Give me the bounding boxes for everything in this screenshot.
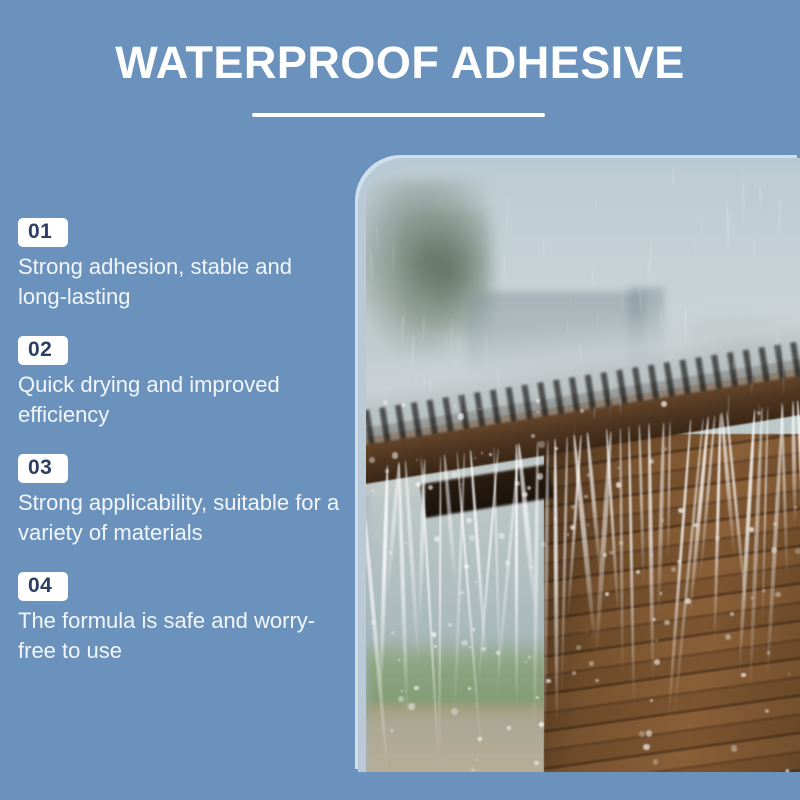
water-droplet — [595, 679, 598, 682]
feature-description: The formula is safe and worry-free to us… — [18, 606, 343, 666]
title-block: WATERPROOF ADHESIVE — [0, 36, 800, 90]
water-droplet — [534, 761, 538, 765]
feature-list: 01 Strong adhesion, stable and long-last… — [18, 218, 348, 690]
water-droplet — [784, 771, 790, 772]
water-droplet — [651, 554, 653, 556]
water-droplet — [646, 730, 652, 736]
water-droplet — [546, 679, 550, 683]
water-droplet — [525, 661, 527, 663]
water-droplet — [471, 768, 475, 772]
water-droplet — [795, 548, 800, 554]
feature-number-badge: 04 — [18, 572, 68, 601]
water-droplet — [498, 533, 504, 539]
water-droplet — [555, 447, 558, 450]
list-item: 03 Strong applicability, suitable for a … — [18, 454, 348, 548]
water-droplet — [537, 411, 539, 413]
water-droplet — [434, 536, 440, 542]
water-droplet — [572, 671, 576, 675]
water-droplet — [369, 457, 375, 463]
water-droplet — [731, 745, 737, 751]
water-droplet — [434, 645, 437, 648]
water-droplet — [655, 639, 658, 642]
water-droplet — [389, 551, 392, 554]
water-droplet — [531, 434, 535, 438]
feature-description: Quick drying and improved efficiency — [18, 370, 343, 430]
water-droplet — [414, 686, 419, 691]
water-droplet — [458, 413, 464, 419]
water-droplet — [451, 708, 457, 714]
water-droplet — [609, 551, 613, 555]
water-droplet — [643, 744, 649, 750]
water-droplet — [654, 659, 660, 665]
page-title: WATERPROOF ADHESIVE — [0, 36, 800, 90]
water-droplet — [371, 620, 376, 625]
list-item: 01 Strong adhesion, stable and long-last… — [18, 218, 348, 312]
water-droplet — [554, 518, 556, 520]
list-item: 02 Quick drying and improved efficiency — [18, 336, 348, 430]
rain-photo-image — [366, 166, 800, 772]
water-droplet — [408, 703, 414, 709]
list-item: 04 The formula is safe and worry-free to… — [18, 572, 348, 666]
water-droplet — [383, 400, 388, 405]
water-droplet — [538, 441, 544, 447]
water-droplet — [539, 722, 544, 727]
water-droplet — [584, 495, 587, 498]
water-droplet — [775, 592, 780, 597]
water-droplet — [650, 699, 653, 702]
water-droplet — [589, 661, 594, 666]
water-droplet — [489, 453, 491, 455]
water-droplet — [507, 726, 511, 730]
title-divider — [252, 113, 545, 117]
feature-description: Strong adhesion, stable and long-lasting — [18, 252, 343, 312]
water-droplet — [522, 492, 527, 497]
water-droplet — [649, 459, 654, 464]
water-droplet — [452, 472, 458, 478]
water-droplet — [385, 469, 389, 473]
rain-streak — [597, 313, 598, 331]
feature-number-badge: 03 — [18, 454, 68, 483]
water-droplet — [671, 567, 676, 572]
water-droplet — [652, 618, 655, 621]
water-droplet — [398, 659, 400, 661]
water-droplet — [639, 731, 644, 736]
feature-number-badge: 02 — [18, 336, 68, 365]
water-droplet — [580, 409, 584, 413]
water-droplet — [505, 560, 511, 566]
water-droplet — [392, 452, 398, 458]
water-droplet — [528, 656, 531, 659]
rain-photo-panel — [358, 158, 800, 772]
water-droplet — [469, 535, 475, 541]
water-droplet — [749, 527, 753, 531]
feature-number-badge: 01 — [18, 218, 68, 247]
water-droplet — [398, 696, 404, 702]
water-droplet — [469, 646, 471, 648]
water-droplet — [448, 623, 452, 627]
water-droplet — [664, 447, 667, 450]
water-droplet — [715, 536, 720, 541]
feature-description: Strong applicability, suitable for a var… — [18, 488, 343, 548]
water-droplet — [664, 620, 670, 626]
water-droplet — [605, 592, 609, 596]
water-droplet — [741, 673, 746, 678]
water-droplet — [653, 759, 658, 764]
water-droplet — [771, 547, 777, 553]
water-droplet — [677, 560, 681, 564]
water-droplet — [481, 647, 485, 651]
water-droplet — [537, 473, 543, 479]
water-droplet — [616, 482, 622, 488]
water-droplet — [472, 628, 475, 631]
photo-ground — [366, 704, 558, 772]
product-feature-poster: WATERPROOF ADHESIVE 01 Strong — [0, 0, 800, 800]
water-droplet — [693, 523, 697, 527]
water-droplet — [461, 640, 467, 646]
